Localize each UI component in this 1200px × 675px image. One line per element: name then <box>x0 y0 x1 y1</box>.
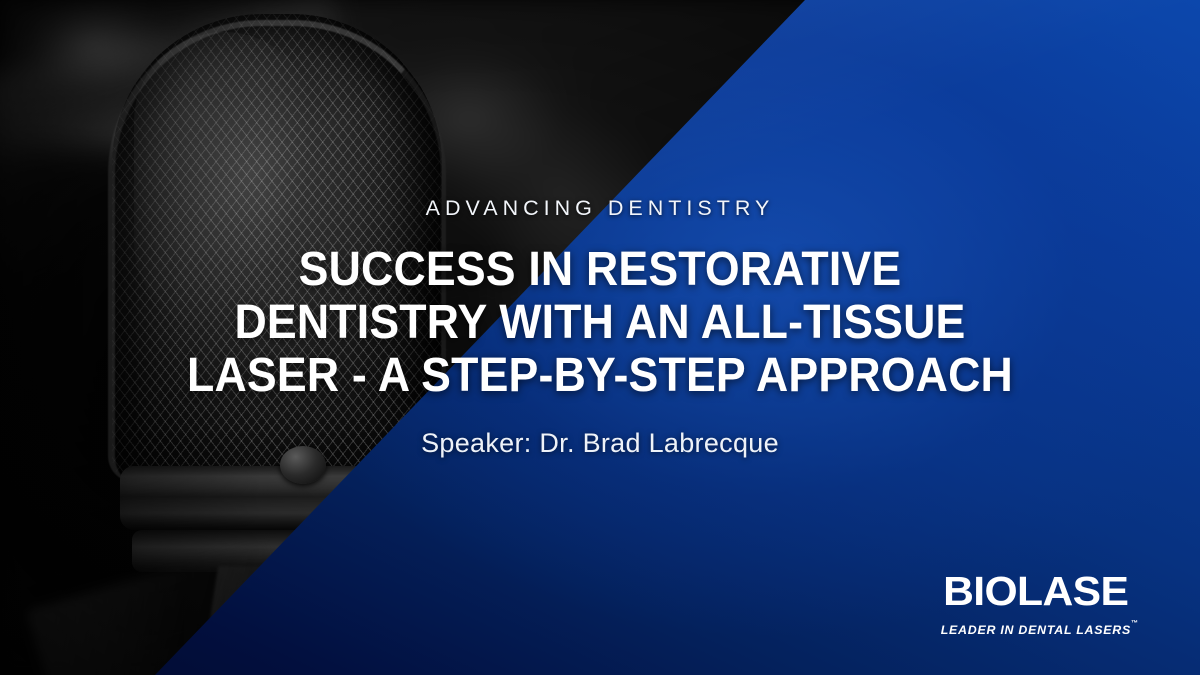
title-line-1: SUCCESS IN RESTORATIVE <box>89 243 1112 296</box>
eyebrow-label: ADVANCING DENTISTRY <box>426 196 775 221</box>
trademark-symbol: ™ <box>1131 620 1138 627</box>
biolase-tagline: LEADER IN DENTAL LASERS™ <box>941 620 1138 637</box>
slide-title: SUCCESS IN RESTORATIVE DENTISTRY WITH AN… <box>89 243 1112 402</box>
title-line-2: DENTISTRY WITH AN ALL-TISSUE <box>89 296 1112 349</box>
slide-canvas: ADVANCING DENTISTRY SUCCESS IN RESTORATI… <box>0 0 1200 675</box>
speaker-label: Speaker: Dr. Brad Labrecque <box>421 428 779 459</box>
title-line-3: LASER - A STEP-BY-STEP APPROACH <box>89 349 1112 402</box>
biolase-wordmark: BIOLASE <box>933 571 1138 612</box>
biolase-logo: BIOLASE LEADER IN DENTAL LASERS™ <box>941 571 1138 637</box>
tagline-text: LEADER IN DENTAL LASERS <box>941 623 1131 637</box>
